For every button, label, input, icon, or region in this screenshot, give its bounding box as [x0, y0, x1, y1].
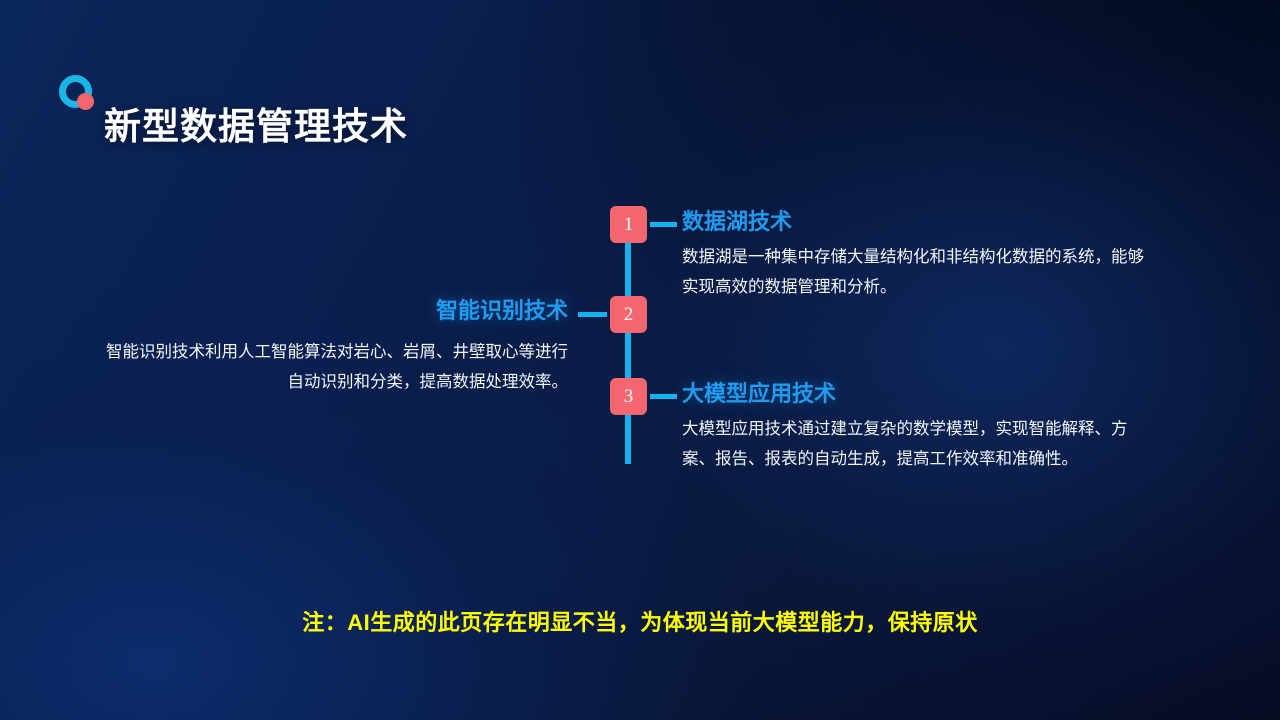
- timeline-spine: [625, 220, 631, 464]
- page-title: 新型数据管理技术: [104, 96, 408, 150]
- dot-icon: [77, 93, 94, 110]
- timeline-item-3-body: 大模型应用技术通过建立复杂的数学模型，实现智能解释、方案、报告、报表的自动生成，…: [682, 414, 1152, 475]
- timeline-badge-3[interactable]: 3: [610, 378, 647, 415]
- slide-root: 新型数据管理技术 1 2 3 数据湖技术 数据湖是一种集中存储大量结构化和非结构…: [0, 0, 1280, 720]
- timeline-item-2-title: 智能识别技术: [100, 297, 568, 325]
- timeline-item-1-body: 数据湖是一种集中存储大量结构化和非结构化数据的系统，能够实现高效的数据管理和分析…: [682, 242, 1152, 303]
- footer-note: 注：AI生成的此页存在明显不当，为体现当前大模型能力，保持原状: [0, 605, 1280, 637]
- timeline-item-2-body: 智能识别技术利用人工智能算法对岩心、岩屑、井壁取心等进行自动识别和分类，提高数据…: [100, 337, 568, 398]
- timeline-item-3-title: 大模型应用技术: [682, 380, 1152, 408]
- timeline-badge-2[interactable]: 2: [610, 296, 647, 333]
- connector-line-3: [650, 394, 677, 399]
- brand-logo: [56, 72, 100, 116]
- timeline-item-1-title: 数据湖技术: [682, 208, 1152, 236]
- timeline-item-2: 智能识别技术 智能识别技术利用人工智能算法对岩心、岩屑、井壁取心等进行自动识别和…: [100, 297, 568, 398]
- connector-line-2: [578, 312, 607, 317]
- timeline-item-3: 大模型应用技术 大模型应用技术通过建立复杂的数学模型，实现智能解释、方案、报告、…: [682, 380, 1152, 475]
- connector-line-1: [650, 222, 677, 227]
- timeline-item-1: 数据湖技术 数据湖是一种集中存储大量结构化和非结构化数据的系统，能够实现高效的数…: [682, 208, 1152, 303]
- timeline-badge-1[interactable]: 1: [610, 206, 647, 243]
